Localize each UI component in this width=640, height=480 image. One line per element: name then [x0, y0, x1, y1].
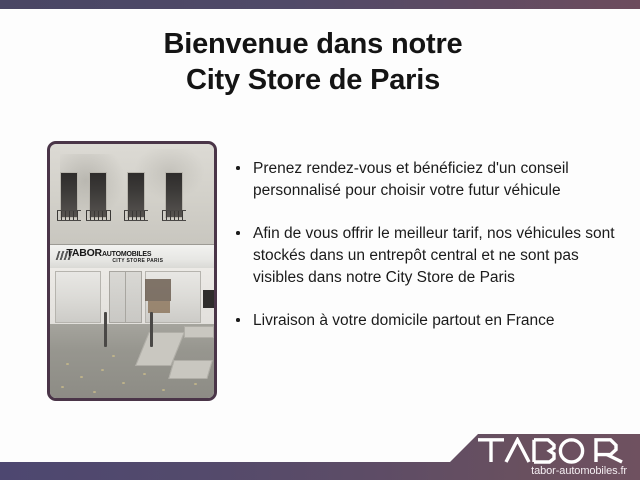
facade-balcony	[57, 210, 82, 221]
presentation-slide: Bienvenue dans notre City Store de Paris…	[0, 0, 640, 480]
brand-logo: tabor-automobiles.fr	[476, 437, 628, 477]
fallen-leaf	[162, 389, 165, 391]
list-item: Livraison à votre domicile partout en Fr…	[234, 310, 626, 332]
bullet-dot-icon	[236, 318, 240, 322]
fallen-leaf	[101, 369, 104, 371]
shop-front	[50, 268, 214, 324]
shop-sign-brand: TABOR	[66, 247, 102, 259]
fallen-leaf	[143, 373, 146, 375]
bullet-dot-icon	[236, 231, 240, 235]
top-accent-bar	[0, 0, 640, 9]
list-item-text: Prenez rendez-vous et bénéficiez d'un co…	[253, 160, 569, 199]
storefront-photo-inner: TABORAUTOMOBILES CITY STORE PARIS	[50, 144, 214, 398]
neighbouring-doorway	[203, 290, 214, 308]
page-title: Bienvenue dans notre City Store de Paris	[0, 26, 640, 98]
title-line-1: Bienvenue dans notre	[0, 26, 640, 62]
shop-interior-fixture	[145, 279, 171, 301]
facade-balcony	[162, 210, 187, 221]
fallen-leaf	[61, 386, 64, 388]
fallen-leaf	[194, 383, 197, 385]
fallen-leaf	[80, 376, 83, 378]
tabor-logo-icon	[476, 437, 628, 464]
facade-balcony	[124, 210, 149, 221]
pavement	[50, 324, 214, 398]
fallen-leaf	[93, 391, 96, 393]
fallen-leaf	[122, 382, 125, 384]
shop-window-left	[55, 271, 101, 322]
title-line-2: City Store de Paris	[0, 62, 640, 98]
street-bollard	[150, 312, 153, 348]
brand-url: tabor-automobiles.fr	[476, 465, 627, 477]
list-item-text: Livraison à votre domicile partout en Fr…	[253, 312, 555, 329]
bullet-dot-icon	[236, 166, 240, 170]
facade-balcony	[86, 210, 111, 221]
kerb-stone	[169, 360, 214, 379]
list-item: Afin de vous offrir le meilleur tarif, n…	[234, 223, 626, 289]
bullet-list: Prenez rendez-vous et bénéficiez d'un co…	[234, 158, 626, 332]
fallen-leaf	[112, 355, 115, 357]
kerb-step	[184, 326, 214, 338]
fallen-leaf	[66, 363, 69, 365]
shop-sign-band: TABORAUTOMOBILES CITY STORE PARIS	[50, 244, 214, 270]
storefront-photo: TABORAUTOMOBILES CITY STORE PARIS	[47, 141, 217, 401]
shop-sign-subtitle: CITY STORE PARIS	[112, 258, 163, 264]
street-bollard	[104, 312, 107, 348]
footer: tabor-automobiles.fr	[0, 434, 640, 480]
shop-door	[109, 271, 142, 322]
list-item: Prenez rendez-vous et bénéficiez d'un co…	[234, 158, 626, 202]
list-item-text: Afin de vous offrir le meilleur tarif, n…	[253, 225, 615, 286]
